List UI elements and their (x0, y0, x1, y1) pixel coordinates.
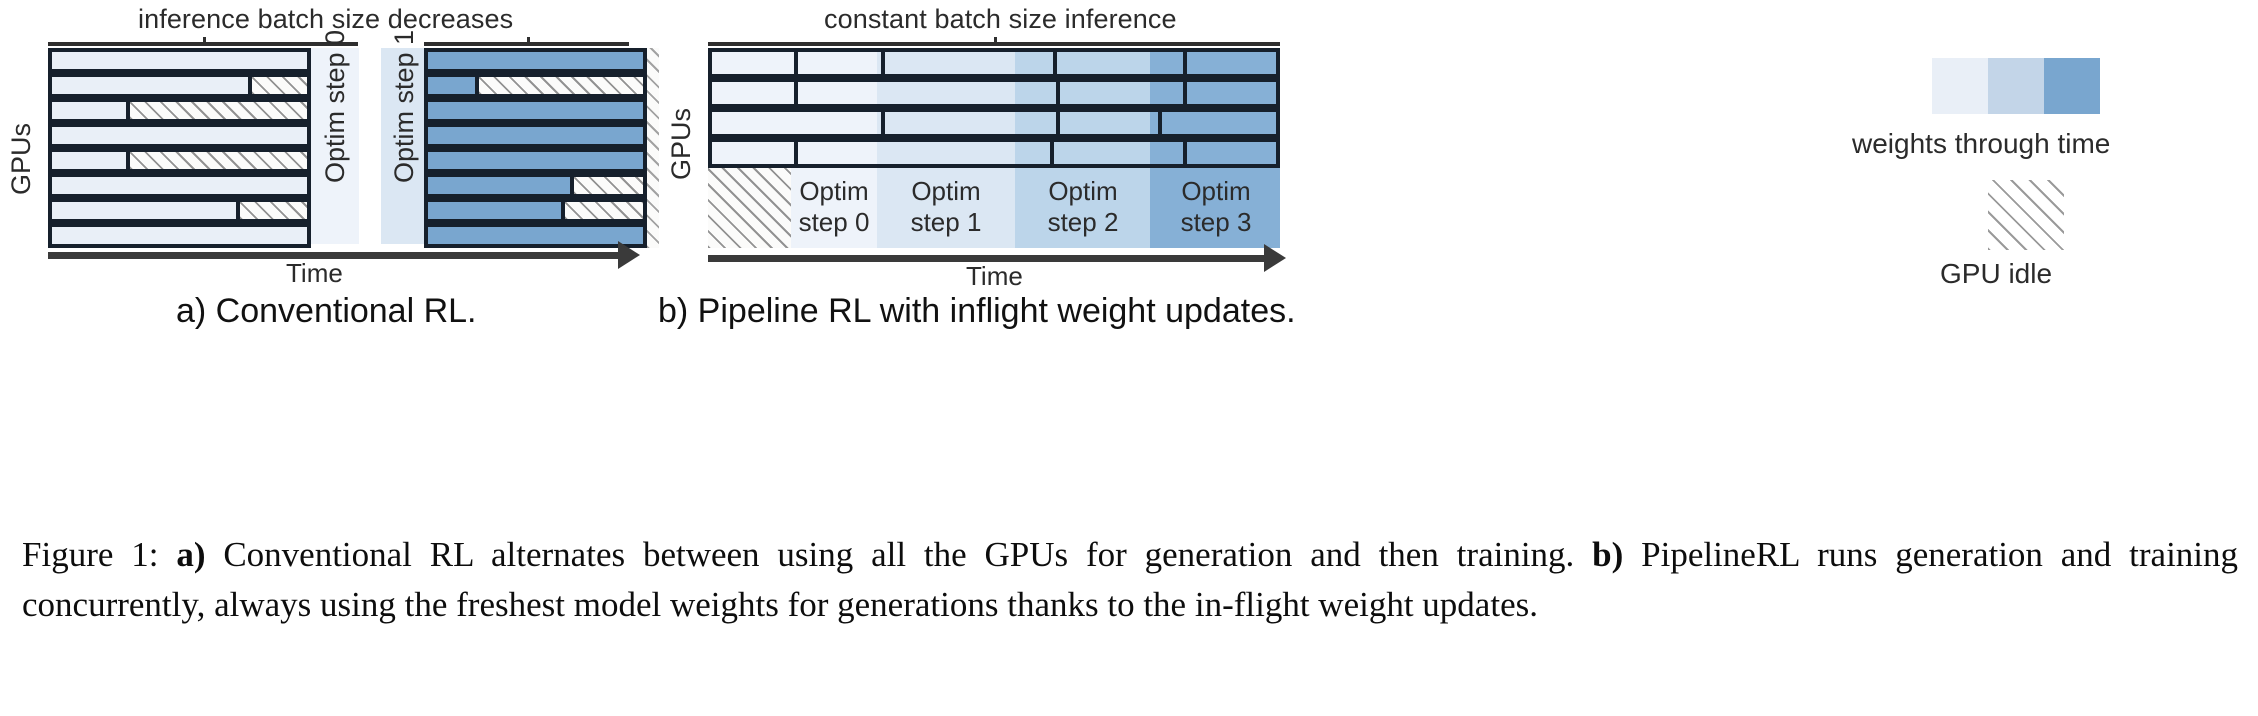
legend-weights-label: weights through time (1852, 128, 2110, 160)
table-row (424, 73, 647, 98)
legend-gpu-idle-label: GPU idle (1940, 258, 2052, 290)
table-row (424, 48, 647, 73)
panel-b-optim-label-1: Optim step 1 (884, 176, 1008, 237)
panel-a-top-rule-left (48, 42, 358, 46)
legend-swatch-mid (1988, 58, 2044, 114)
panel-b-sub-caption: b) Pipeline RL with inflight weight upda… (658, 292, 1296, 331)
panel-b-optim-label-1-line1: Optim (884, 176, 1008, 207)
table-row (708, 138, 1280, 168)
panel-b-optim-label-0-line1: Optim (791, 176, 877, 207)
panel-b-header: constant batch size inference (824, 4, 1177, 35)
panel-b-optim-label-0-line2: step 0 (791, 207, 877, 238)
legend-swatch-dark (2044, 58, 2100, 114)
table-row (48, 73, 311, 98)
legend: weights through time GPU idle (1860, 40, 2258, 280)
table-row (424, 173, 647, 198)
panel-b-optim-label-2: Optim step 2 (1021, 176, 1145, 237)
panel-b-optim-label-1-line2: step 1 (884, 207, 1008, 238)
table-row (48, 123, 311, 148)
table-row (424, 98, 647, 123)
legend-swatch-light (1932, 58, 1988, 114)
table-row (48, 223, 311, 248)
panel-b-optim-label-3: Optim step 3 (1156, 176, 1276, 237)
table-row (708, 48, 1280, 78)
figure-caption-body: a) Conventional RL alternates between us… (22, 535, 2238, 624)
panel-b-x-axis-label: Time (966, 261, 1023, 292)
panel-a-sub-caption: a) Conventional RL. (176, 292, 477, 331)
figure-number: Figure 1: (22, 535, 158, 574)
panel-b-optim-label-2-line2: step 2 (1021, 207, 1145, 238)
panel-b-optim-label-3-line2: step 3 (1156, 207, 1276, 238)
table-row (48, 198, 311, 223)
panel-b-optim-label-0: Optim step 0 (791, 176, 877, 237)
panel-b-optim-label-2-line1: Optim (1021, 176, 1145, 207)
panel-b-gpu-idle-block (708, 168, 791, 248)
table-row (48, 98, 311, 123)
table-row (708, 108, 1280, 138)
panel-b-top-rule (708, 42, 1280, 46)
panel-a-top-rule-right (424, 42, 629, 46)
panel-a: inference batch size decreases GPUs Opti… (0, 0, 690, 500)
panel-b-optim-label-3-line1: Optim (1156, 176, 1276, 207)
table-row (424, 123, 647, 148)
panel-a-time-axis-arrow (618, 241, 640, 269)
panel-b-y-axis: GPUs (646, 115, 716, 175)
legend-swatch-gpu-idle (1988, 180, 2064, 250)
table-row (48, 173, 311, 198)
table-row (424, 198, 647, 223)
table-row (708, 78, 1280, 108)
panel-b: constant batch size inference GPUs (690, 0, 1850, 500)
table-row (424, 148, 647, 173)
panel-a-y-axis-label: GPUs (0, 125, 51, 195)
table-row (48, 148, 311, 173)
panel-a-x-axis-label: Time (286, 258, 343, 289)
panel-b-time-axis-arrow (1264, 244, 1286, 272)
table-row (48, 48, 311, 73)
table-row (424, 223, 647, 248)
panel-b-y-axis-label: GPUs (651, 110, 711, 180)
figure-root: inference batch size decreases GPUs Opti… (0, 0, 2258, 716)
figure-caption: Figure 1: a) Conventional RL alternates … (22, 530, 2238, 629)
